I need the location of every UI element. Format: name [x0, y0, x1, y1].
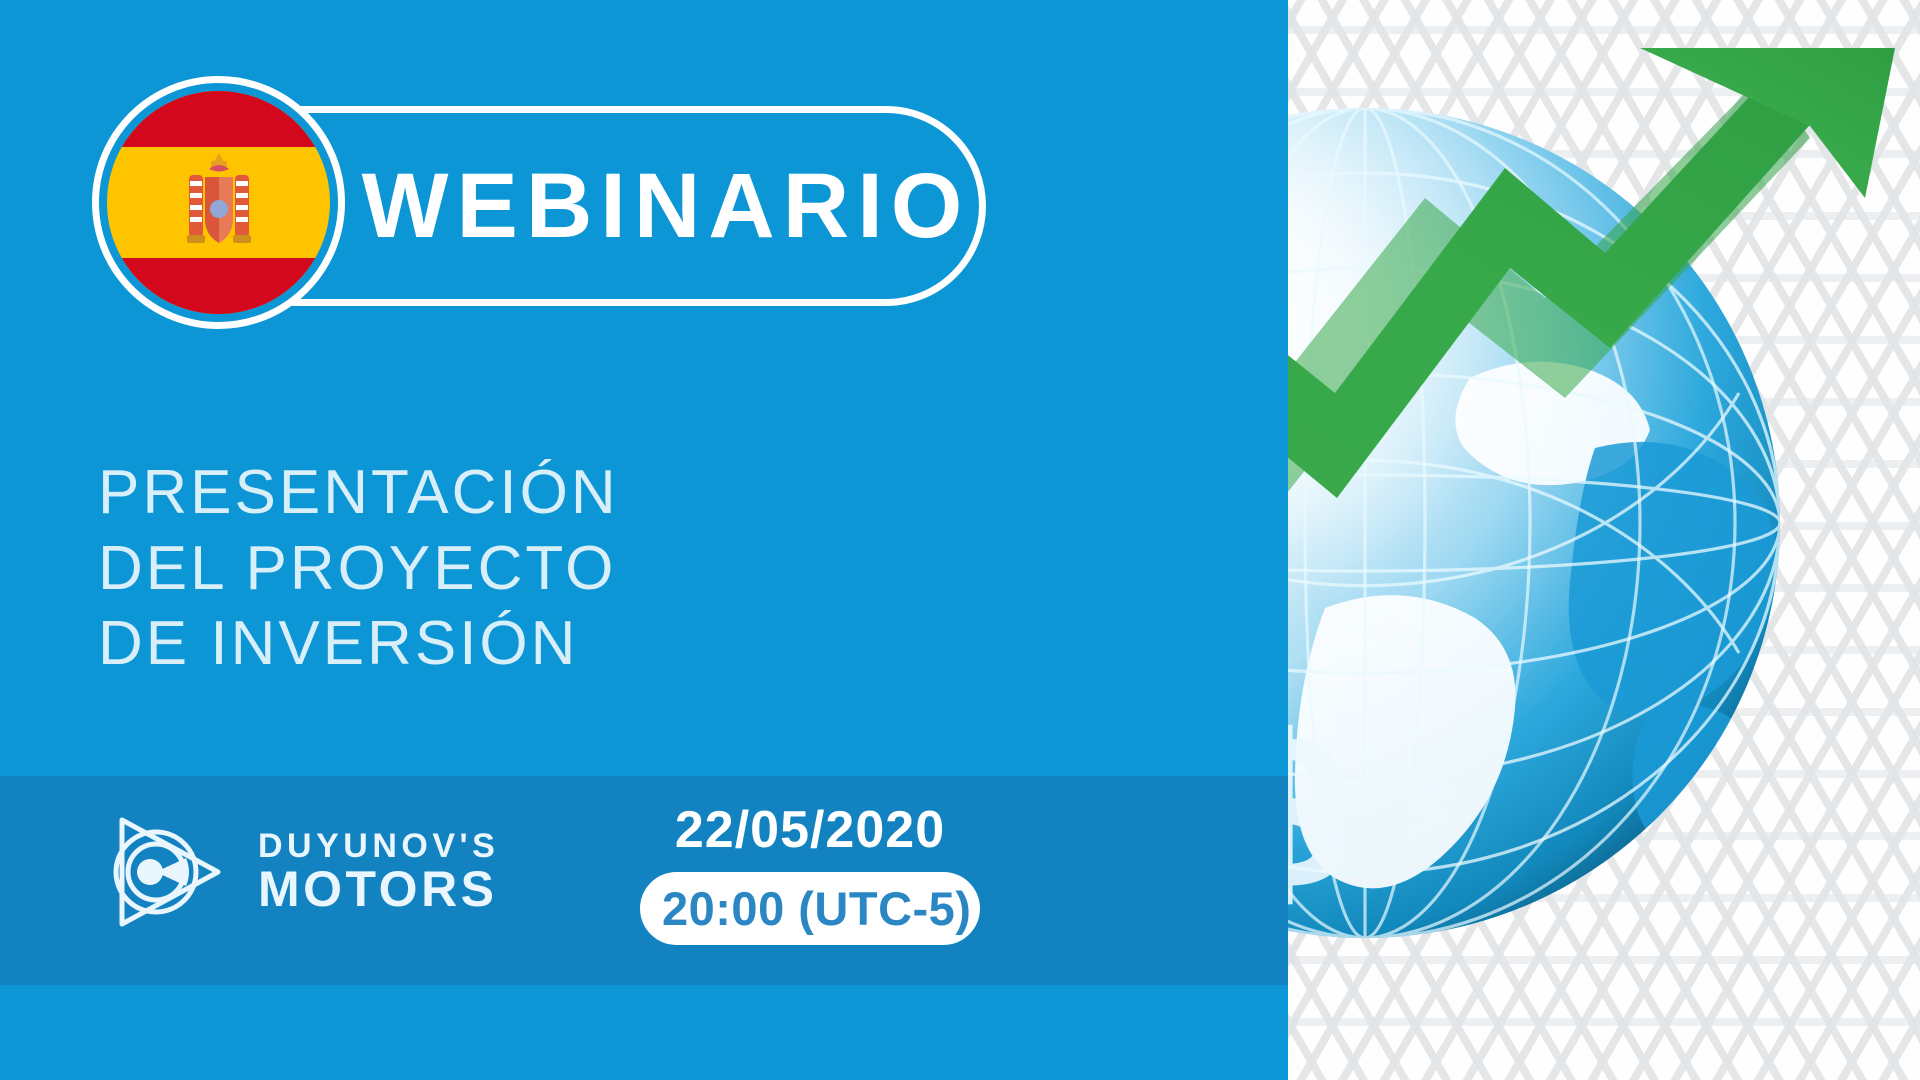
dollar-symbol: $	[1405, 762, 1458, 869]
flag-stripe-top	[107, 91, 330, 147]
brand-name-top: DUYUNOV'S	[258, 829, 499, 865]
event-time-badge: 20:00 (UTC-5)	[640, 872, 980, 945]
spain-flag-icon	[92, 76, 345, 329]
brand-name: DUYUNOV'S MOTORS	[258, 829, 499, 916]
panel-bottom	[0, 985, 1288, 1080]
brand-name-bottom: MOTORS	[258, 864, 499, 915]
headline-line-3: DE INVERSIÓN	[98, 606, 619, 682]
schedule-block: 22/05/2020 20:00 (UTC-5)	[640, 800, 980, 945]
flag-stripe-bottom	[107, 258, 330, 314]
flag-inner	[107, 91, 330, 314]
headline-line-2: DEL PROYECTO	[98, 531, 619, 607]
webinar-banner: $ $ $ $ WEBINARIO	[0, 0, 1920, 1080]
event-date: 22/05/2020	[640, 800, 980, 860]
page-title: PRESENTACIÓN DEL PROYECTO DE INVERSIÓN	[98, 455, 619, 682]
duyunovs-motors-logo-icon	[100, 806, 232, 938]
webinar-label: WEBINARIO	[362, 160, 971, 252]
spain-coat-of-arms-icon	[175, 147, 263, 259]
headline-line-1: PRESENTACIÓN	[98, 455, 619, 531]
brand-logo: DUYUNOV'S MOTORS	[100, 806, 499, 938]
